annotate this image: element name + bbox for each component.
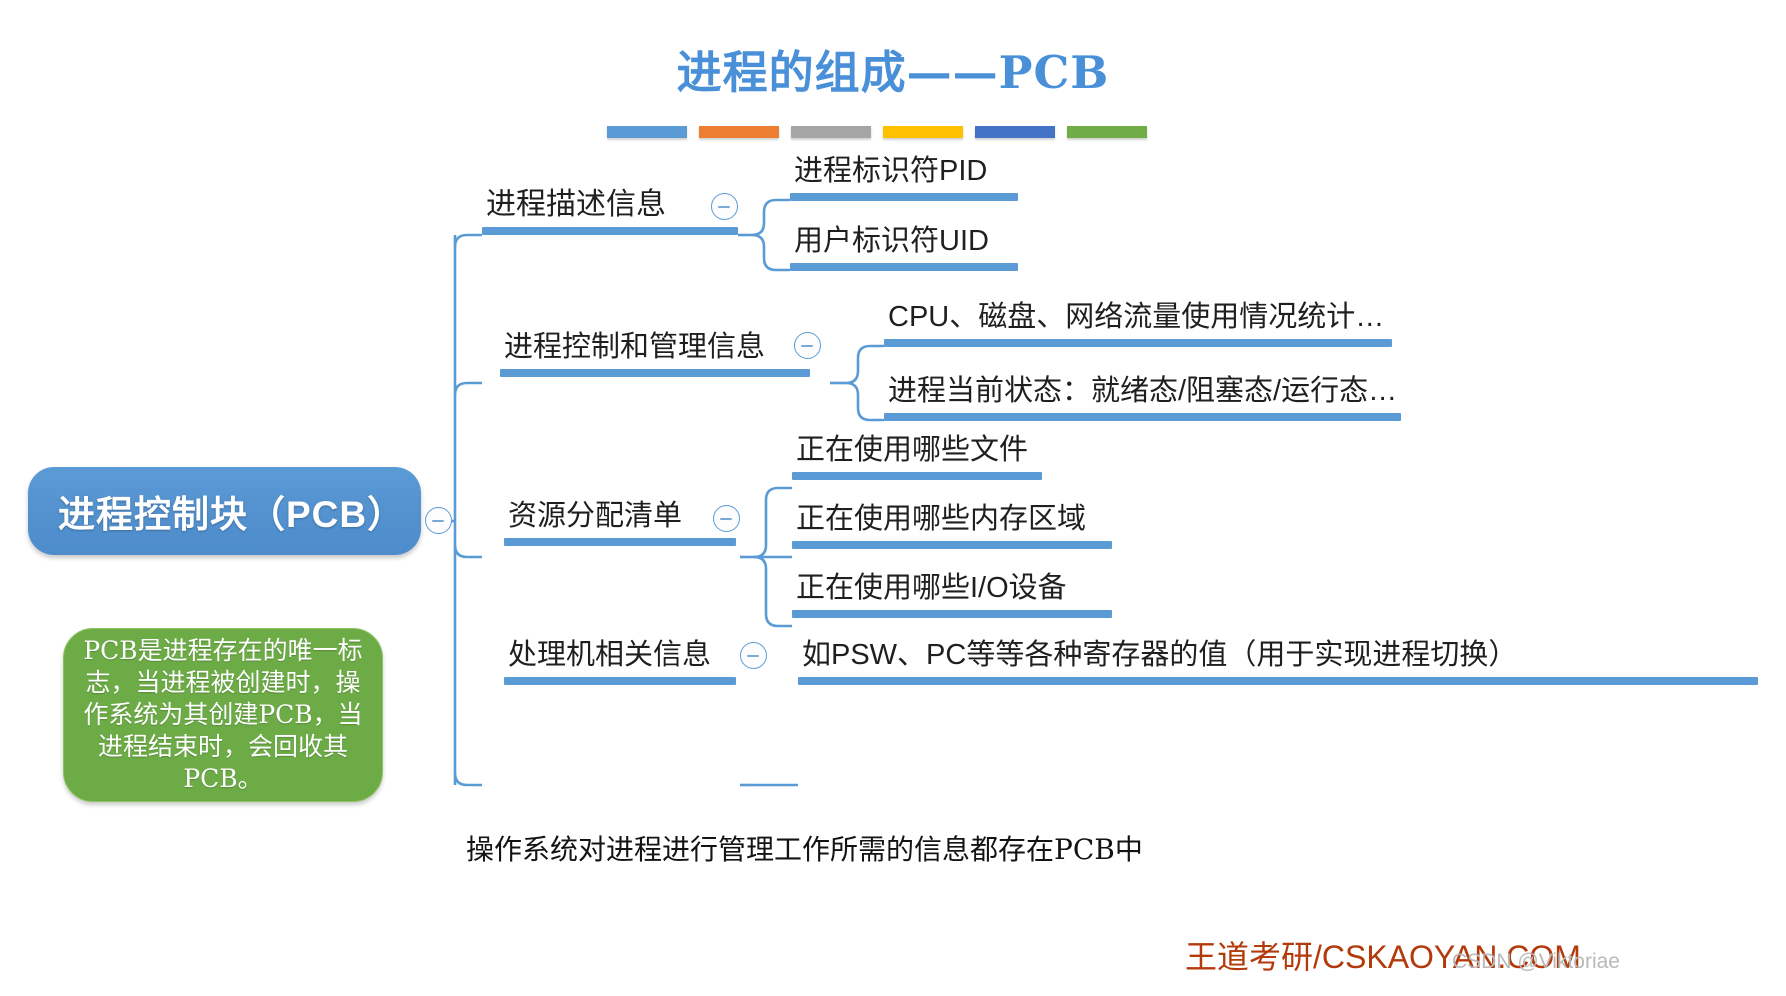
- pcb-callout: PCB是进程存在的唯一标志，当进程被创建时，操作系统为其创建PCB，当进程结束时…: [63, 628, 383, 802]
- branch-node-2-underline: [500, 369, 810, 377]
- accent-bar-gray: [791, 126, 871, 138]
- leaf-node-3-3[interactable]: 正在使用哪些I/O设备: [792, 574, 1112, 618]
- branch-2-collapse-toggle-icon[interactable]: [794, 332, 821, 359]
- leaf-node-2-1[interactable]: CPU、磁盘、网络流量使用情况统计…: [884, 303, 1392, 347]
- branch-node-1-label: 进程描述信息: [482, 190, 738, 227]
- branch-node-4-underline: [504, 677, 736, 685]
- branch-3-collapse-toggle-icon[interactable]: [713, 505, 740, 532]
- accent-bar-group: [607, 126, 1147, 138]
- leaf-node-4-1-underline: [798, 677, 1758, 685]
- root-collapse-toggle-icon[interactable]: [425, 507, 452, 534]
- leaf-node-3-1[interactable]: 正在使用哪些文件: [792, 436, 1042, 480]
- accent-bar-indigo: [975, 126, 1055, 138]
- accent-bar-green: [1067, 126, 1147, 138]
- leaf-node-1-2-label: 用户标识符UID: [790, 227, 1018, 263]
- root-node-pcb[interactable]: 进程控制块（PCB）: [28, 467, 421, 555]
- accent-bar-gold: [883, 126, 963, 138]
- leaf-node-1-2[interactable]: 用户标识符UID: [790, 227, 1018, 271]
- branch-node-4[interactable]: 处理机相关信息: [504, 641, 736, 685]
- root-node-label: 进程控制块（PCB）: [58, 484, 405, 538]
- leaf-node-2-1-underline: [884, 339, 1392, 347]
- leaf-node-1-1-underline: [790, 193, 1018, 201]
- leaf-node-3-3-underline: [792, 610, 1112, 618]
- branch-node-1[interactable]: 进程描述信息: [482, 190, 738, 235]
- leaf-node-1-2-underline: [790, 263, 1018, 271]
- leaf-node-1-1[interactable]: 进程标识符PID: [790, 157, 1018, 201]
- slide-canvas: 进程的组成——PCB: [0, 0, 1786, 996]
- branch-node-2[interactable]: 进程控制和管理信息: [500, 333, 810, 377]
- summary-caption: 操作系统对进程进行管理工作所需的信息都存在PCB中: [466, 828, 1143, 868]
- leaf-node-3-3-label: 正在使用哪些I/O设备: [792, 574, 1112, 610]
- leaf-node-2-2-label: 进程当前状态：就绪态/阻塞态/运行态…: [884, 377, 1401, 413]
- leaf-node-3-2-underline: [792, 541, 1112, 549]
- watermark: CSDN @Viktoriae: [1452, 950, 1620, 974]
- page-title: 进程的组成——PCB: [0, 36, 1786, 101]
- branch-node-3[interactable]: 资源分配清单: [504, 502, 736, 546]
- branch-node-3-underline: [504, 538, 736, 546]
- leaf-node-2-2[interactable]: 进程当前状态：就绪态/阻塞态/运行态…: [884, 377, 1401, 421]
- leaf-node-3-2[interactable]: 正在使用哪些内存区域: [792, 505, 1112, 549]
- accent-bar-blue: [607, 126, 687, 138]
- leaf-node-3-1-underline: [792, 472, 1042, 480]
- leaf-node-3-1-label: 正在使用哪些文件: [792, 436, 1042, 472]
- leaf-node-4-1-label: 如PSW、PC等等各种寄存器的值（用于实现进程切换）: [798, 641, 1758, 677]
- branch-node-1-underline: [482, 227, 738, 235]
- leaf-node-2-2-underline: [884, 413, 1401, 421]
- leaf-node-4-1[interactable]: 如PSW、PC等等各种寄存器的值（用于实现进程切换）: [798, 641, 1758, 685]
- accent-bar-orange: [699, 126, 779, 138]
- branch-node-2-label: 进程控制和管理信息: [500, 333, 810, 369]
- leaf-node-3-2-label: 正在使用哪些内存区域: [792, 505, 1112, 541]
- branch-1-collapse-toggle-icon[interactable]: [711, 193, 738, 220]
- branch-4-collapse-toggle-icon[interactable]: [740, 642, 767, 669]
- branch-node-3-label: 资源分配清单: [504, 502, 736, 538]
- leaf-node-2-1-label: CPU、磁盘、网络流量使用情况统计…: [884, 303, 1392, 339]
- leaf-node-1-1-label: 进程标识符PID: [790, 157, 1018, 193]
- pcb-callout-text: PCB是进程存在的唯一标志，当进程被创建时，操作系统为其创建PCB，当进程结束时…: [64, 635, 382, 795]
- branch-node-4-label: 处理机相关信息: [504, 641, 736, 677]
